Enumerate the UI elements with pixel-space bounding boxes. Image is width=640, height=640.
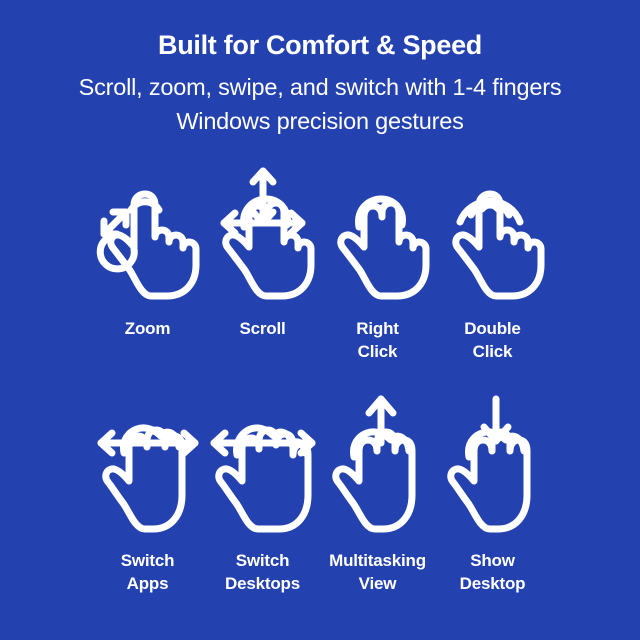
page-title: Built for Comfort & Speed xyxy=(52,28,588,62)
gesture-label: Show Desktop xyxy=(460,549,526,595)
two-finger-pinch-zoom-icon xyxy=(93,160,203,305)
gesture-item-zoom[interactable]: Zoom xyxy=(90,160,205,340)
poster-header: Built for Comfort & Speed Scroll, zoom, … xyxy=(0,0,640,138)
three-finger-swipe-down-icon xyxy=(438,385,548,535)
three-finger-swipe-horizontal-icon xyxy=(93,385,203,535)
gesture-item-right-click[interactable]: Right Click xyxy=(320,160,435,363)
gesture-item-multitasking-view[interactable]: Multitasking View xyxy=(320,385,435,595)
gesture-item-double-click[interactable]: Double Click xyxy=(435,160,550,363)
three-finger-swipe-up-icon xyxy=(323,385,433,535)
two-finger-scroll-icon xyxy=(208,160,318,305)
gesture-row-bottom: Switch Apps Switch Desktop xyxy=(0,385,640,600)
gesture-label: Switch Apps xyxy=(121,549,175,595)
page-subtitle: Scroll, zoom, swipe, and switch with 1-4… xyxy=(52,70,588,138)
gesture-label: Right Click xyxy=(356,317,398,363)
gesture-item-switch-apps[interactable]: Switch Apps xyxy=(90,385,205,595)
gesture-row-top: Zoom xyxy=(0,160,640,385)
four-finger-swipe-horizontal-icon xyxy=(208,385,318,535)
gesture-feature-poster: Built for Comfort & Speed Scroll, zoom, … xyxy=(0,0,640,640)
two-finger-tap-icon xyxy=(323,160,433,305)
gesture-item-scroll[interactable]: Scroll xyxy=(205,160,320,340)
gesture-label: Zoom xyxy=(125,317,170,340)
gesture-label: Multitasking View xyxy=(329,549,426,595)
gesture-label: Switch Desktops xyxy=(225,549,300,595)
gesture-item-show-desktop[interactable]: Show Desktop xyxy=(435,385,550,595)
one-finger-double-tap-icon xyxy=(438,160,548,305)
gesture-label: Scroll xyxy=(239,317,285,340)
gesture-label: Double Click xyxy=(464,317,520,363)
gesture-grid: Zoom xyxy=(0,160,640,600)
gesture-item-switch-desktops[interactable]: Switch Desktops xyxy=(205,385,320,595)
